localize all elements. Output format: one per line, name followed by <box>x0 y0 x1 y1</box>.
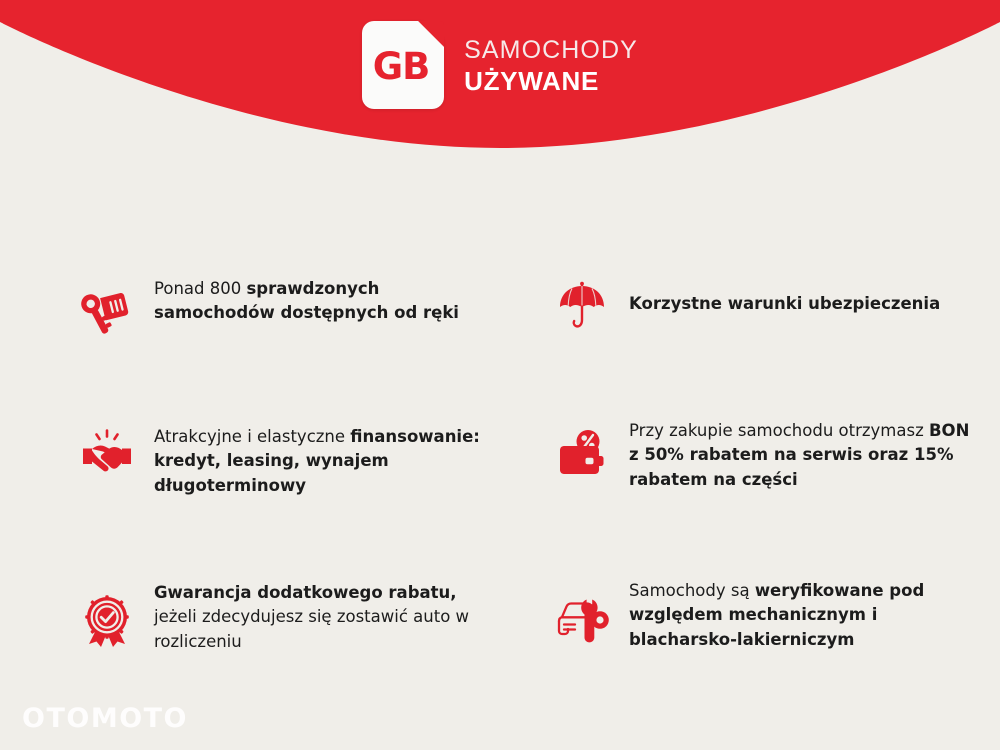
feature-lead-keys: Ponad 800 <box>154 279 246 298</box>
feature-item-voucher: Przy zakupie samochodu otrzymasz BON z 5… <box>553 418 1000 556</box>
gb-logo[interactable]: GB <box>362 21 444 109</box>
brand-wordmark: SAMOCHODY UŻYWANE <box>464 38 638 94</box>
otomoto-watermark: OTOMOTO <box>22 703 188 734</box>
logo-gb-text: GB <box>373 48 430 85</box>
features-grid: Ponad 800 sprawdzonych samochodów dostęp… <box>0 276 1000 704</box>
feature-item-keys: Ponad 800 sprawdzonych samochodów dostęp… <box>78 276 533 402</box>
feature-lead-inspection: Samochody są <box>629 581 755 600</box>
feature-text-keys: Ponad 800 sprawdzonych samochodów dostęp… <box>154 276 504 326</box>
feature-bold-insurance: Korzystne warunki ubezpieczenia <box>629 294 940 313</box>
brand-line-uzywane: UŻYWANE <box>464 68 638 94</box>
umbrella-icon <box>553 278 611 336</box>
feature-tail-tradein: jeżeli zdecydujesz się zostawić auto w r… <box>154 607 469 650</box>
feature-item-financing: Atrakcyjne i elastyczne finansowanie: kr… <box>78 424 533 556</box>
feature-text-insurance: Korzystne warunki ubezpieczenia <box>629 278 940 316</box>
feature-item-tradein-discount: Gwarancja dodatkowego rabatu, jeżeli zde… <box>78 580 533 704</box>
feature-item-inspection: Samochody są weryfikowane pod względem m… <box>553 578 1000 704</box>
brand-line-samochody: SAMOCHODY <box>464 38 638 63</box>
feature-text-financing: Atrakcyjne i elastyczne finansowanie: kr… <box>154 424 504 498</box>
feature-lead-financing: Atrakcyjne i elastyczne <box>154 427 350 446</box>
handshake-icon <box>78 426 136 484</box>
car-keys-with-tag-icon <box>78 282 136 340</box>
feature-item-insurance: Korzystne warunki ubezpieczenia <box>553 278 1000 402</box>
feature-text-tradein-discount: Gwarancja dodatkowego rabatu, jeżeli zde… <box>154 580 504 654</box>
promo-banner: GB SAMOCHODY UŻYWANE <box>0 0 1000 750</box>
logo-corner-cut-icon <box>418 21 444 47</box>
feature-bold-tradein: Gwarancja dodatkowego rabatu, <box>154 583 457 602</box>
award-rosette-check-icon <box>78 592 136 650</box>
wallet-percent-icon <box>553 426 611 484</box>
feature-text-voucher: Przy zakupie samochodu otrzymasz BON z 5… <box>629 418 979 492</box>
header-content: GB SAMOCHODY UŻYWANE <box>0 0 1000 130</box>
feature-text-inspection: Samochody są weryfikowane pod względem m… <box>629 578 979 652</box>
car-wrench-gear-icon <box>553 590 611 648</box>
feature-lead-voucher: Przy zakupie samochodu otrzymasz <box>629 421 929 440</box>
